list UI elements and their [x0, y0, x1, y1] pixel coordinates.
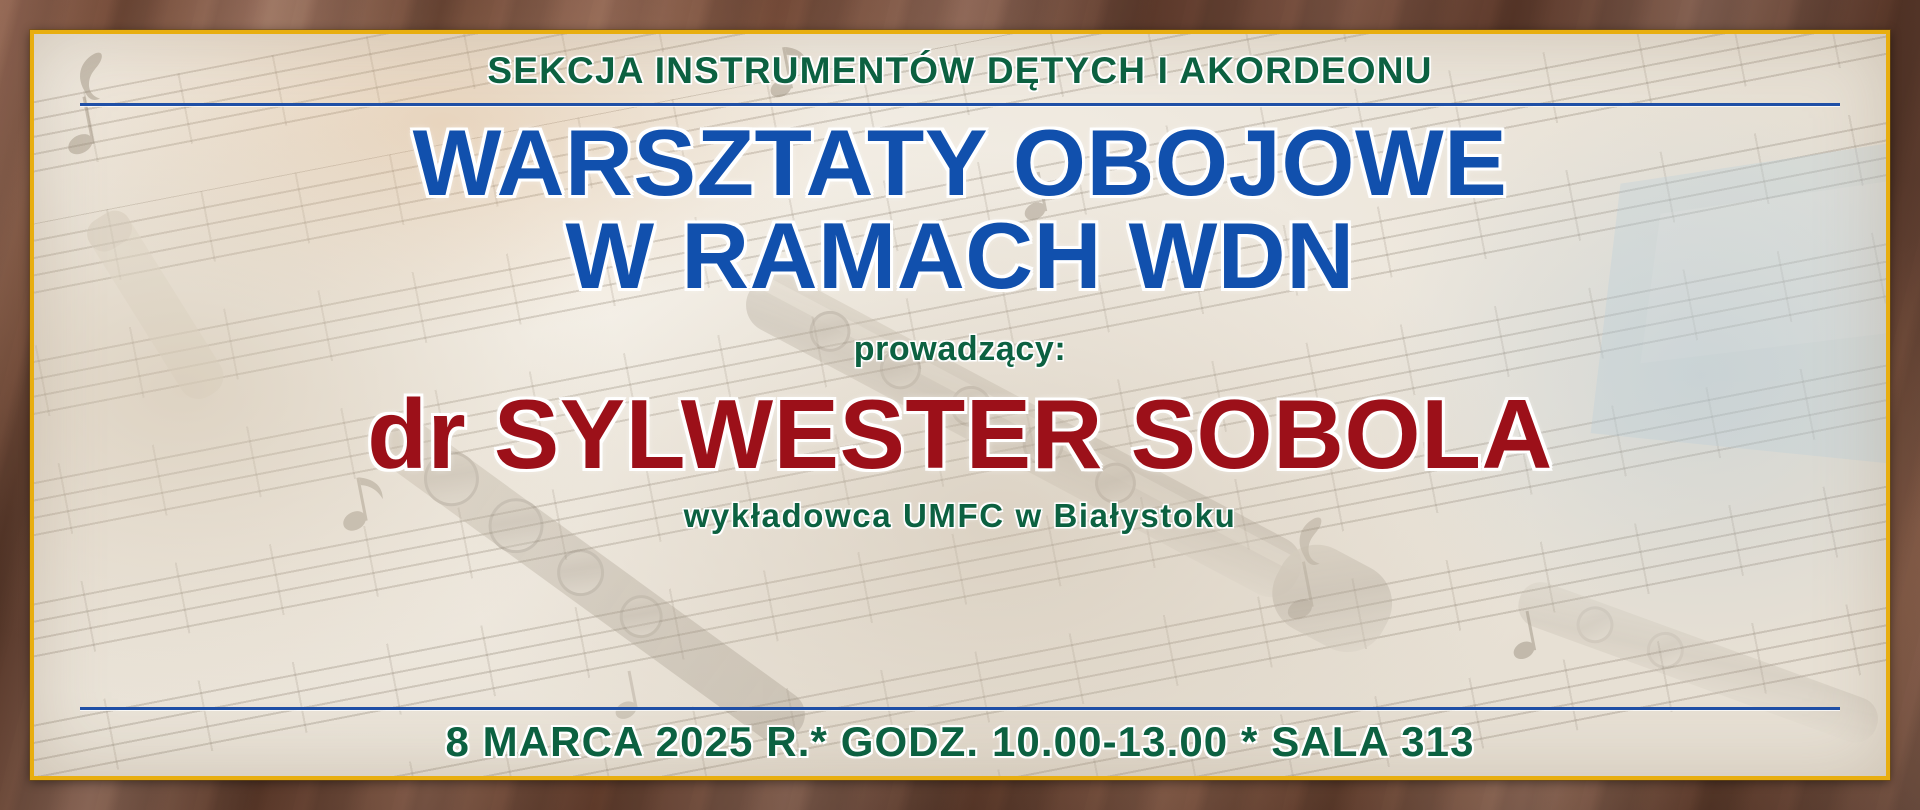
divider-bottom	[80, 707, 1840, 710]
poster-root: SEKCJA INSTRUMENTÓW DĘTYCH I AKORDEONU W…	[0, 0, 1920, 810]
lead-label: prowadzący:	[854, 330, 1067, 369]
divider-top	[80, 103, 1840, 106]
gold-frame: SEKCJA INSTRUMENTÓW DĘTYCH I AKORDEONU W…	[30, 30, 1890, 780]
section-header: SEKCJA INSTRUMENTÓW DĘTYCH I AKORDEONU	[487, 50, 1432, 92]
presenter-name: dr SYLWESTER SOBOLA	[367, 385, 1553, 483]
presenter-prefix: dr	[367, 379, 494, 489]
event-details: 8 MARCA 2025 R.* GODZ. 10.00-13.00 * SAL…	[445, 718, 1474, 766]
title-line-1: WARSZTATY OBOJOWE	[413, 110, 1508, 215]
presenter-fullname: SYLWESTER SOBOLA	[494, 379, 1553, 489]
title-line-2: W RAMACH WDN	[413, 209, 1508, 302]
poster-content: SEKCJA INSTRUMENTÓW DĘTYCH I AKORDEONU W…	[34, 34, 1886, 776]
page-title: WARSZTATY OBOJOWE W RAMACH WDN	[413, 116, 1508, 302]
presenter-affiliation: wykładowca UMFC w Białystoku	[684, 497, 1237, 535]
